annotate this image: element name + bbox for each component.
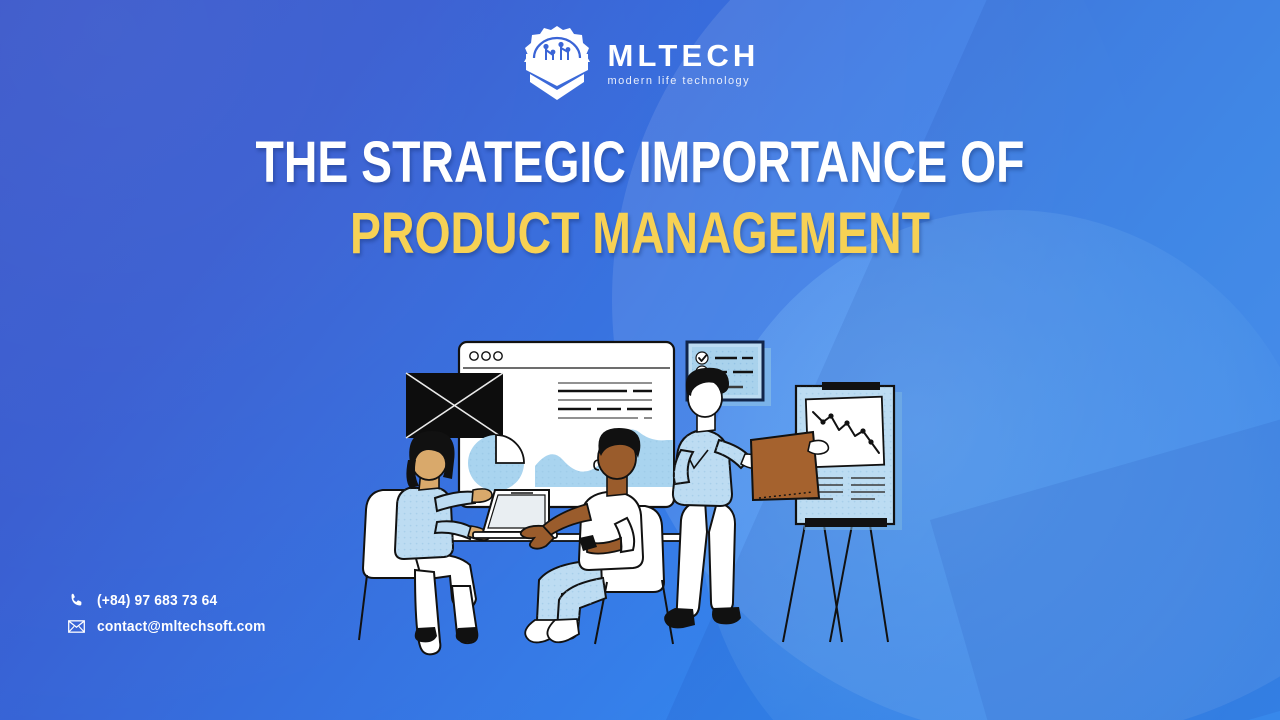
contact-email-text[interactable]: contact@mltechsoft.com: [97, 618, 266, 635]
crossed-image-placeholder: [406, 373, 503, 438]
illustration-svg: [355, 320, 925, 665]
team-product-meeting-illustration: [355, 320, 925, 665]
envelope-icon: [68, 618, 85, 635]
checkbox-checked: [696, 352, 708, 364]
poster-canvas: MLTECH modern life technology THE STRATE…: [0, 0, 1280, 720]
contact-email-row: contact@mltechsoft.com: [68, 618, 280, 635]
phone-icon: [68, 592, 85, 609]
contact-phone-row: (+84) 97 683 73 64: [68, 592, 280, 609]
headline-line-1: THE STRATEGIC IMPORTANCE OF: [128, 133, 1152, 192]
page-title: THE STRATEGIC IMPORTANCE OF PRODUCT MANA…: [0, 133, 1280, 263]
contact-phone-text[interactable]: (+84) 97 683 73 64: [97, 592, 217, 609]
flipchart: [783, 382, 902, 642]
brand-name: MLTECH: [607, 40, 759, 71]
pie-chart: [468, 435, 524, 491]
brand-tagline: modern life technology: [607, 76, 759, 87]
flipchart-legs: [783, 525, 888, 642]
shield-gear-circuit-logo-icon: [520, 24, 594, 102]
browser-window: [406, 342, 674, 507]
brand-logo: MLTECH modern life technology: [0, 24, 1280, 102]
browser-traffic-lights: [470, 352, 502, 360]
brand-logo-text: MLTECH modern life technology: [607, 40, 759, 87]
contact-info: (+84) 97 683 73 64 contact@mltechsoft.co…: [68, 592, 280, 635]
clipboard: [751, 432, 819, 500]
headline-line-2: PRODUCT MANAGEMENT: [128, 204, 1152, 263]
